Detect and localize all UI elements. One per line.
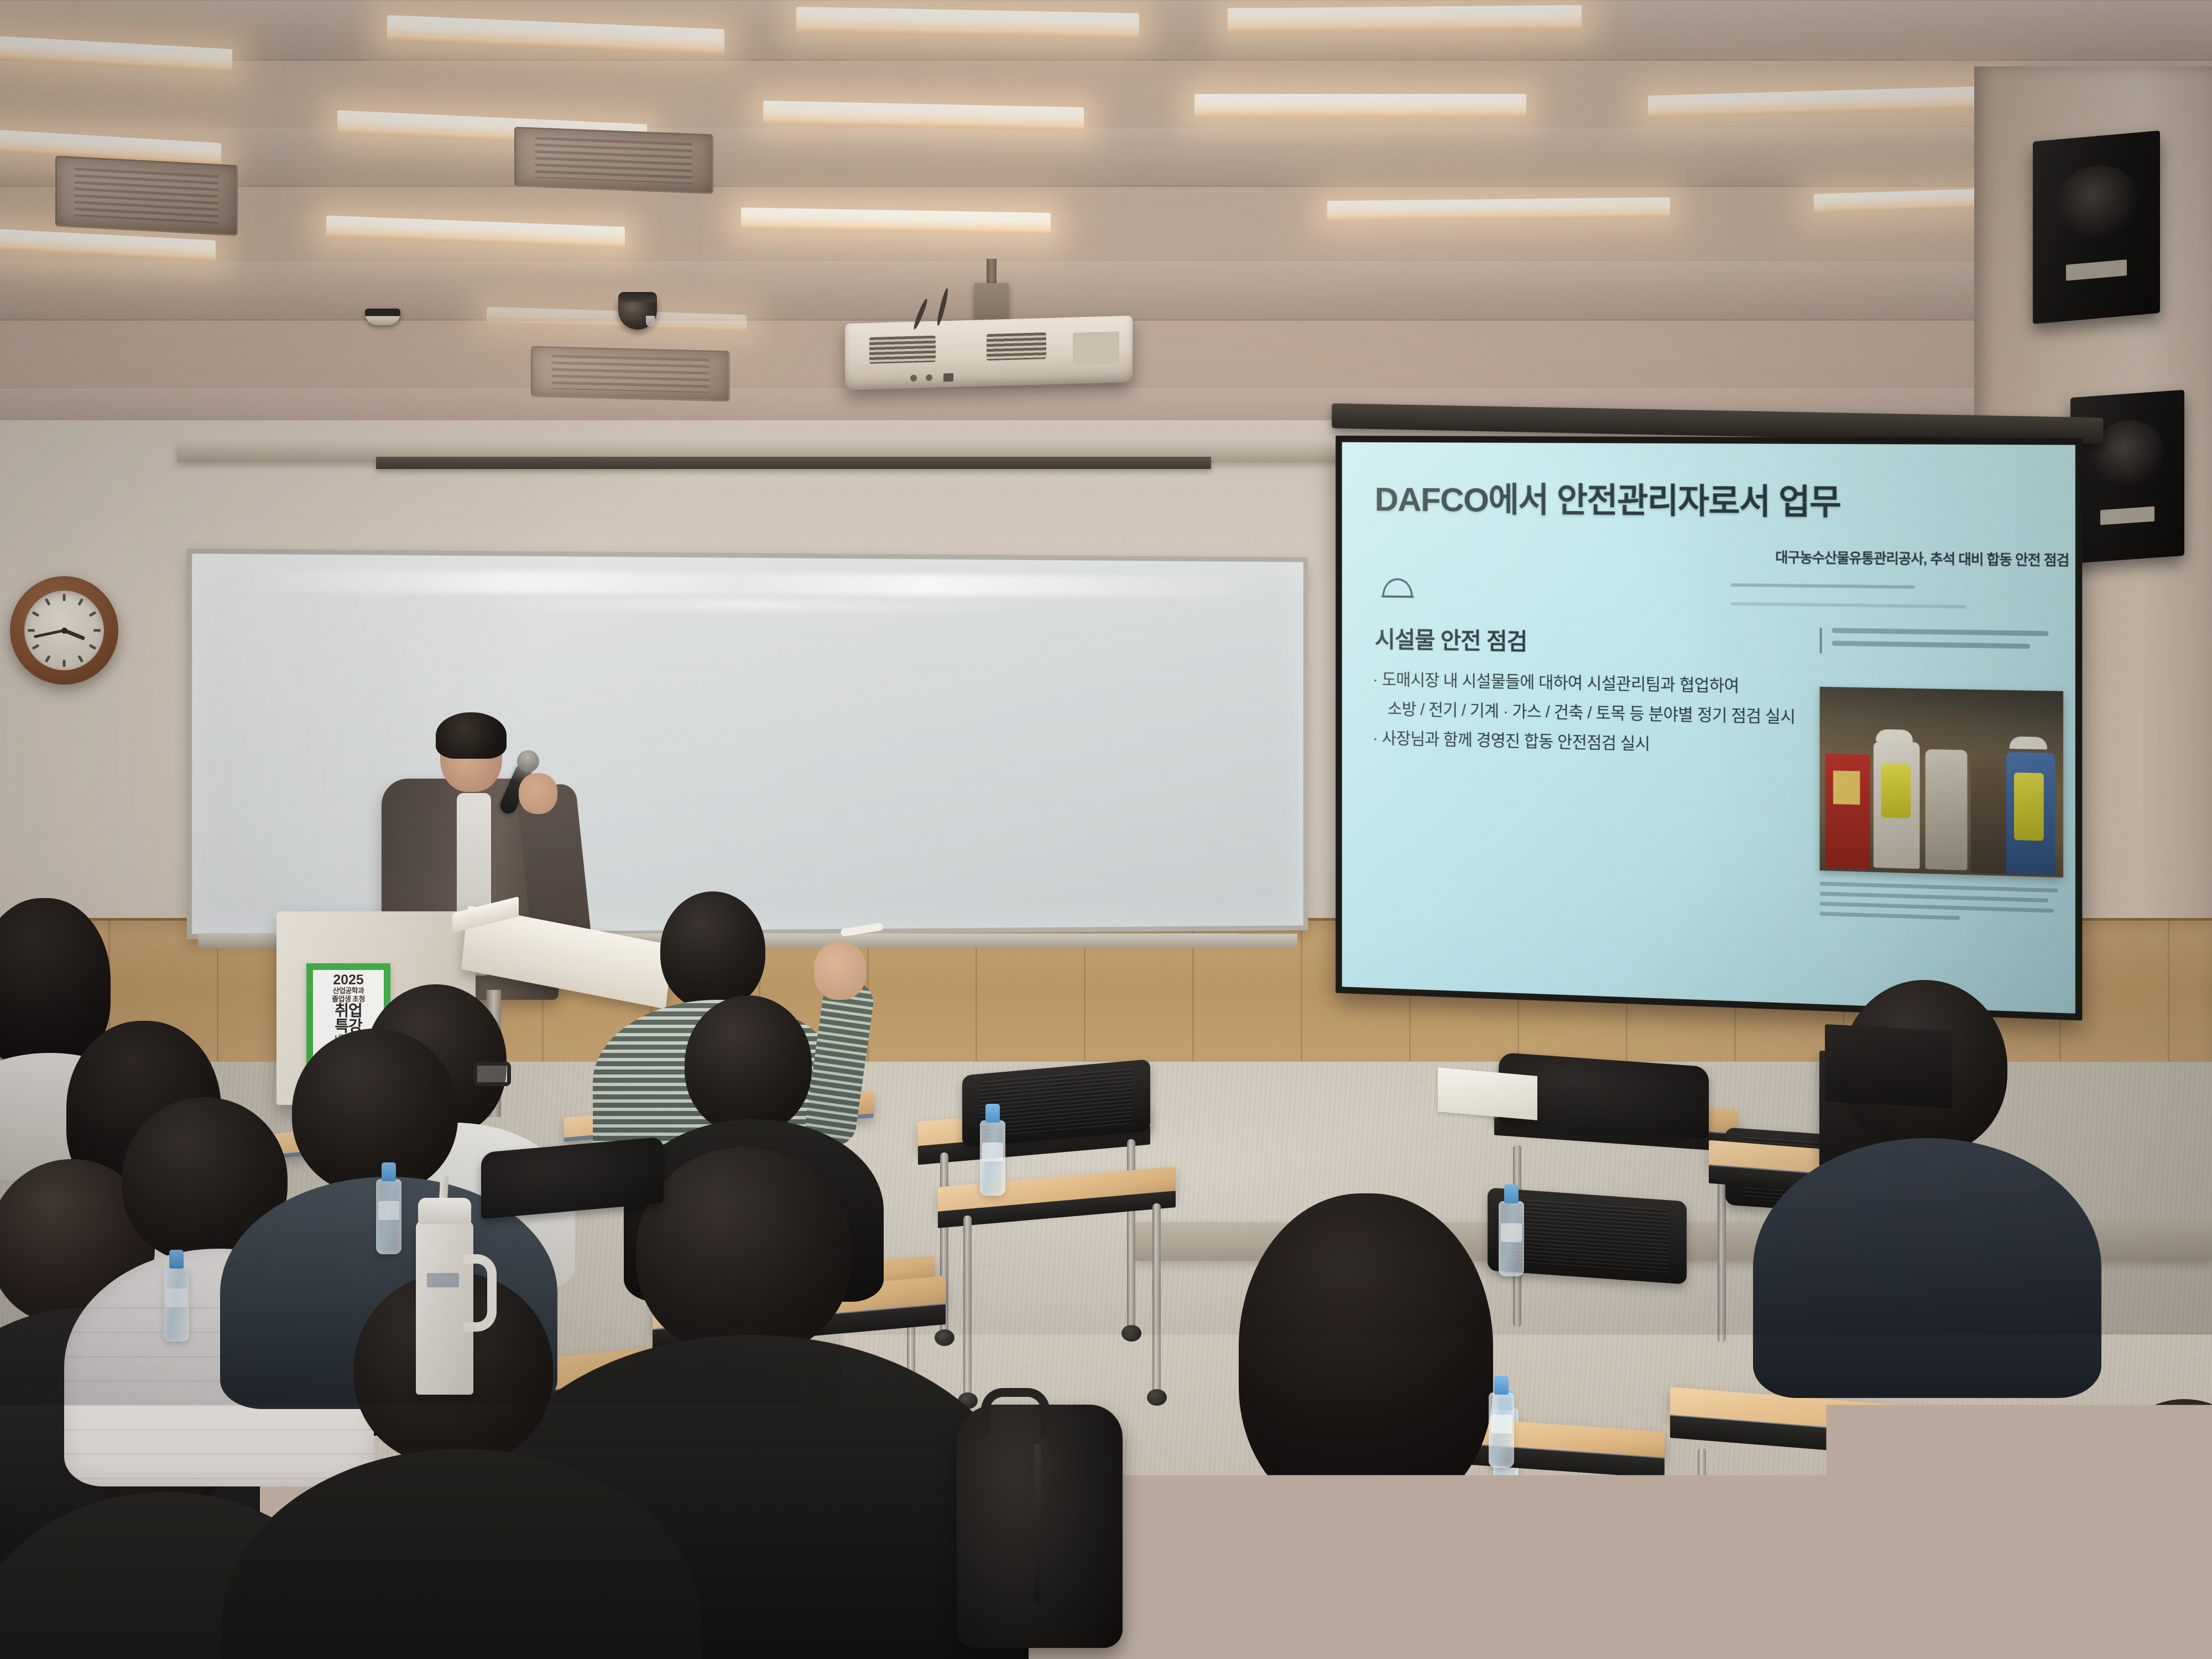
presenter-hand xyxy=(519,773,557,814)
projection-screen: DAFCO에서 안전관리자로서 업무 시설물 안전 점검 · 도매시장 내 시설… xyxy=(1335,436,2082,1021)
ceiling xyxy=(0,0,2212,459)
water-bottle xyxy=(1489,1392,1514,1468)
banner-year: 2025 xyxy=(314,973,383,987)
news-caption xyxy=(1820,881,2063,929)
slide-section-heading: 시설물 안전 점검 xyxy=(1375,621,1527,656)
backpack xyxy=(957,1405,1123,1648)
ceiling-projector xyxy=(845,316,1133,390)
raised-hand xyxy=(814,942,866,1000)
water-bottle xyxy=(376,1179,401,1254)
ceiling-air-vent xyxy=(514,127,713,194)
news-headline: 대구농수산물유통관리공사, 추석 대비 합동 안전 점검 xyxy=(1731,549,2069,570)
water-bottle xyxy=(1499,1201,1524,1276)
clock-minute-hand xyxy=(34,629,65,639)
banner-line1: 산업공학과 xyxy=(314,987,383,995)
news-photo xyxy=(1820,687,2063,878)
tumbler-handle xyxy=(463,1254,497,1332)
slide-bullet: · 사장님과 함께 경영진 합동 안전점검 실시 xyxy=(1373,724,1650,754)
screen-track-rail xyxy=(376,457,1211,469)
wall-speaker xyxy=(2070,390,2184,564)
clock-face xyxy=(24,591,104,670)
presentation-slide: DAFCO에서 안전관리자로서 업무 시설물 안전 점검 · 도매시장 내 시설… xyxy=(1342,442,2075,1014)
whiteboard xyxy=(187,549,1308,939)
slide-title: DAFCO에서 안전관리자로서 업무 xyxy=(1375,472,1840,524)
monitor xyxy=(1825,1024,1952,1108)
smoke-detector-icon xyxy=(365,309,400,325)
banner-line3: 취업 xyxy=(314,1003,383,1019)
wall-speaker xyxy=(2033,131,2160,324)
news-quote-block xyxy=(1820,628,2058,657)
lecture-hall-photo: DAFCO에서 안전관리자로서 업무 시설물 안전 점검 · 도매시장 내 시설… xyxy=(0,0,2212,1659)
ceiling-light xyxy=(1194,94,1526,117)
safety-helmet-icon xyxy=(1381,576,1415,600)
paper-sheet xyxy=(1438,1067,1537,1120)
water-bottle xyxy=(980,1120,1005,1196)
ceiling-light xyxy=(1648,86,2002,118)
ceiling-light xyxy=(1327,197,1670,221)
slide-bullet: · 도매시장 내 시설물들에 대하여 시설관리팀과 협업하여 xyxy=(1373,666,1739,696)
ceiling-light xyxy=(326,216,625,248)
slide-bullet: 소방 / 전기 / 기계 · 가스 / 건축 / 토목 등 분야별 정기 점검 … xyxy=(1387,695,1796,727)
tumbler-logo xyxy=(427,1273,459,1287)
ceiling-light xyxy=(741,207,1051,234)
wall-clock xyxy=(10,576,118,685)
water-bottle xyxy=(164,1266,189,1342)
ceiling-light xyxy=(1228,5,1582,33)
ceiling-air-vent xyxy=(531,346,730,402)
ceiling-light xyxy=(0,228,216,261)
presenter-hair xyxy=(436,712,507,759)
ceiling-air-vent xyxy=(55,155,238,236)
